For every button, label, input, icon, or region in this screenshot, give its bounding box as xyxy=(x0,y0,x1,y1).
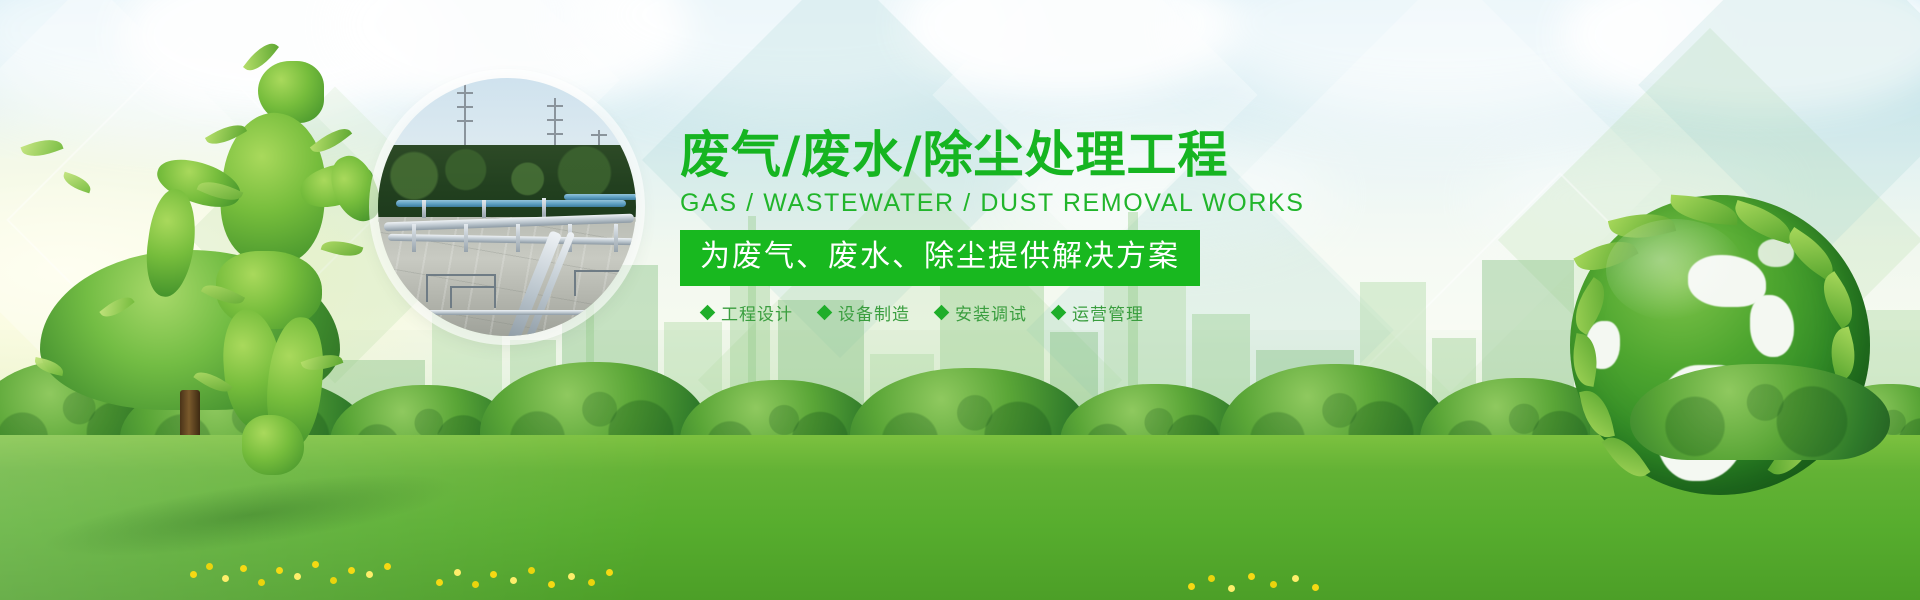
yellow-flower-cluster xyxy=(430,530,620,600)
yellow-flower-cluster xyxy=(1180,530,1330,600)
diamond-icon xyxy=(700,305,716,321)
diamond-icon xyxy=(1051,305,1067,321)
service-bullet-item: 工程设计 xyxy=(702,300,793,325)
service-bullet-item: 设备制造 xyxy=(819,300,910,325)
running-leaf-person-figure xyxy=(150,55,380,475)
diamond-icon xyxy=(934,305,950,321)
banner-copy-block: 废气/废水/除尘处理工程 GAS / WASTEWATER / DUST REM… xyxy=(680,126,1200,325)
wastewater-plant-photo xyxy=(378,78,636,336)
page-subtitle-english: GAS / WASTEWATER / DUST REMOVAL WORKS xyxy=(680,188,1200,218)
service-bullet-list: 工程设计 设备制造 安装调试 运营管理 xyxy=(680,300,1200,325)
service-bullet-label: 安装调试 xyxy=(955,300,1027,325)
page-title: 废气/废水/除尘处理工程 xyxy=(680,126,1200,184)
service-bullet-item: 运营管理 xyxy=(1053,300,1144,325)
service-bullet-label: 设备制造 xyxy=(838,300,910,325)
service-bullet-label: 工程设计 xyxy=(721,300,793,325)
tagline-ribbon: 为废气、废水、除尘提供解决方案 xyxy=(680,230,1200,286)
eco-engineering-banner: 废气/废水/除尘处理工程 GAS / WASTEWATER / DUST REM… xyxy=(0,0,1920,600)
service-bullet-label: 运营管理 xyxy=(1072,300,1144,325)
yellow-flower-cluster xyxy=(180,530,400,600)
service-bullet-item: 安装调试 xyxy=(936,300,1027,325)
transmission-tower-icon xyxy=(464,84,466,154)
diamond-icon xyxy=(817,305,833,321)
